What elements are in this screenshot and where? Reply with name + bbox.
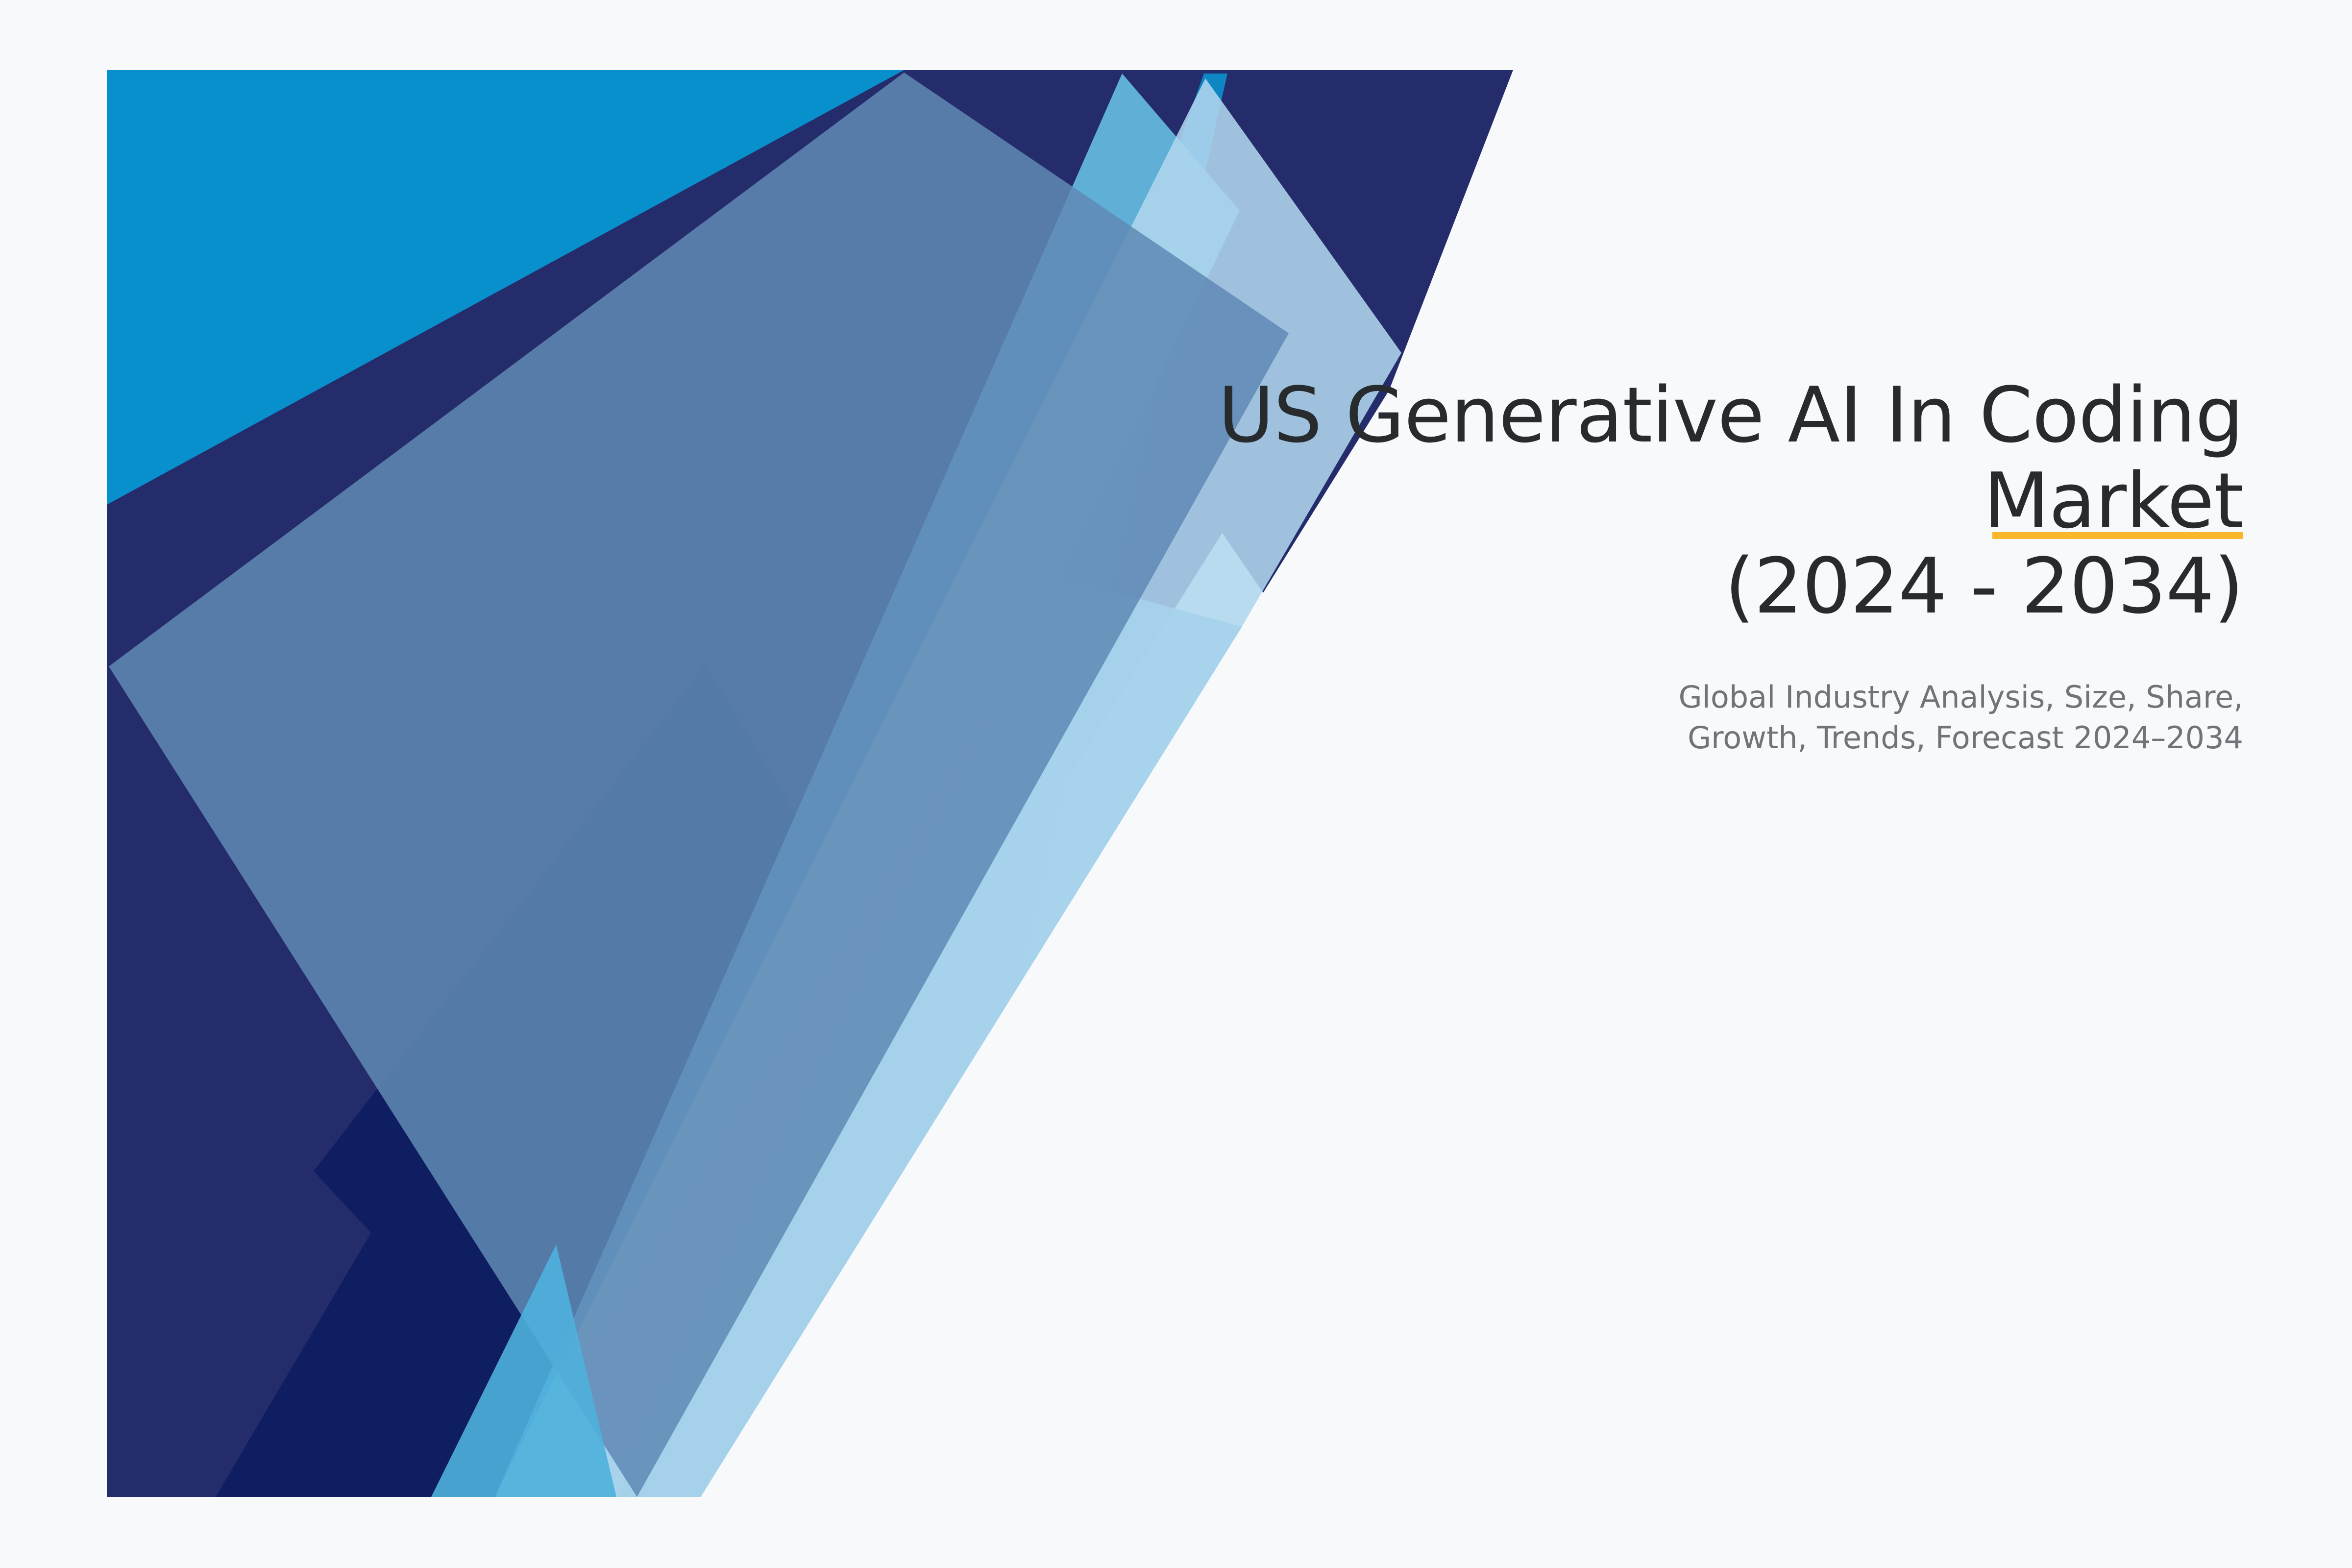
page-title: US Generative AI In Coding Market (2024 … (1018, 372, 2243, 629)
page-subtitle: Global Industry Analysis, Size, Share, G… (1018, 629, 2243, 758)
abstract-polygon-graphic (0, 0, 2352, 1568)
report-cover-page: US Generative AI In Coding Market (2024 … (0, 0, 2352, 1568)
cover-text-block: US Generative AI In Coding Market (2024 … (1018, 372, 2243, 758)
